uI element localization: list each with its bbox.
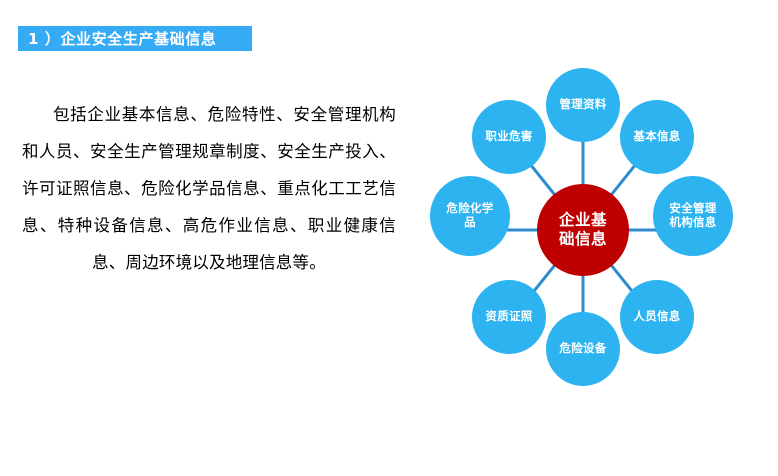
node-label-line1: 企业基 — [559, 211, 607, 230]
diagram-node-basic-info[interactable]: 基本信息 — [620, 100, 694, 174]
page-title: 1 ）企业安全生产基础信息 — [28, 28, 216, 49]
slide-canvas: 1 ）企业安全生产基础信息 包括企业基本信息、危险特性、安全管理机构和人员、安全… — [0, 0, 778, 476]
diagram-node-management-data[interactable]: 管理资料 — [546, 68, 620, 142]
node-label-line1: 安全管理 — [669, 202, 716, 216]
node-label: 安全管理 机构信息 — [669, 202, 716, 230]
diagram-node-center-enterprise-basic-info[interactable]: 企业基 础信息 — [537, 184, 629, 276]
node-label: 基本信息 — [633, 130, 680, 144]
diagram-node-qualification-license[interactable]: 资质证照 — [472, 280, 546, 354]
diagram-node-hazardous-chemicals[interactable]: 危险化学 品 — [430, 176, 510, 256]
diagram-node-occupational-hazard[interactable]: 职业危害 — [472, 100, 546, 174]
section-header-banner: 1 ）企业安全生产基础信息 — [18, 26, 252, 51]
node-label: 企业基 础信息 — [559, 211, 607, 248]
diagram-node-safety-management-org[interactable]: 安全管理 机构信息 — [653, 176, 733, 256]
node-label: 资质证照 — [485, 310, 532, 324]
node-label: 危险设备 — [559, 342, 606, 356]
diagram-node-hazardous-equipment[interactable]: 危险设备 — [546, 312, 620, 386]
node-label-line2: 础信息 — [559, 230, 607, 249]
body-paragraph: 包括企业基本信息、危险特性、安全管理机构和人员、安全生产管理规章制度、安全生产投… — [22, 96, 396, 281]
node-label-line1: 危险化学 — [446, 202, 493, 216]
diagram-node-personnel-info[interactable]: 人员信息 — [620, 280, 694, 354]
node-label-line2: 品 — [446, 216, 493, 230]
node-label: 危险化学 品 — [446, 202, 493, 230]
node-label: 职业危害 — [485, 130, 532, 144]
node-label: 人员信息 — [633, 310, 680, 324]
node-label: 管理资料 — [559, 98, 606, 112]
radial-diagram: 管理资料 基本信息 安全管理 机构信息 人员信息 危险设备 资质证照 危险化学 … — [408, 50, 774, 400]
node-label-line2: 机构信息 — [669, 216, 716, 230]
